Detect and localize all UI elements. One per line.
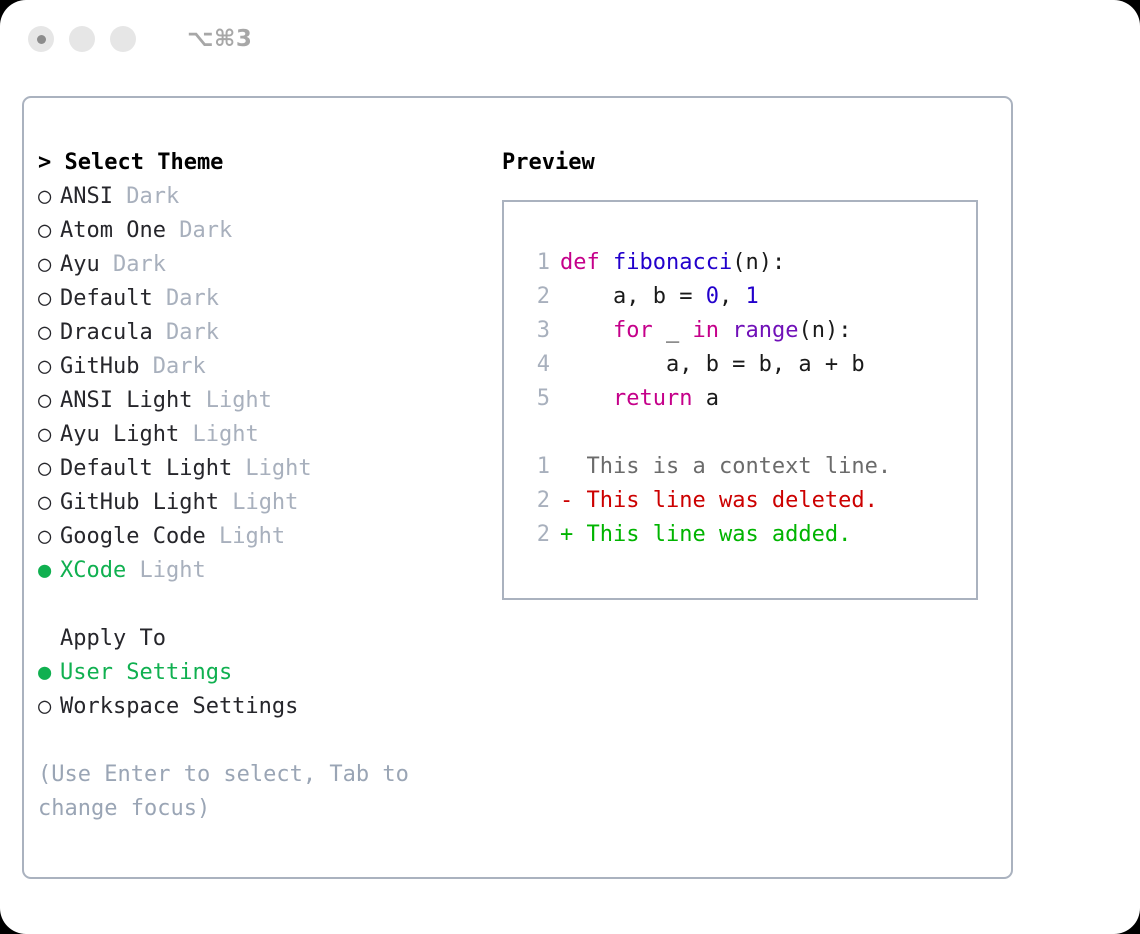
select-theme-heading: > Select Theme: [38, 146, 478, 180]
theme-name: ANSI: [60, 184, 113, 209]
theme-list-item[interactable]: ○Default Dark: [38, 282, 478, 316]
theme-list[interactable]: ○ANSI Dark○Atom One Dark○Ayu Dark○Defaul…: [38, 180, 478, 588]
keyboard-hint: (Use Enter to select, Tab to change focu…: [38, 758, 438, 826]
apply-to-option[interactable]: ○Workspace Settings: [38, 690, 478, 724]
traffic-light-maximize[interactable]: [110, 26, 136, 52]
code-token: a, b = b, a + b: [560, 352, 865, 377]
theme-name: Dracula: [60, 320, 153, 345]
radio-unselected-icon[interactable]: ○: [38, 180, 60, 214]
code-token: in: [692, 318, 719, 343]
code-token: 1: [745, 284, 758, 309]
line-number: 3: [524, 314, 550, 348]
radio-selected-icon[interactable]: ●: [38, 554, 60, 588]
radio-unselected-icon[interactable]: ○: [38, 690, 60, 724]
theme-name: XCode: [60, 558, 126, 583]
theme-variant-tag: Light: [219, 490, 298, 515]
theme-variant-tag: Light: [126, 558, 205, 583]
theme-variant-tag: Dark: [139, 354, 205, 379]
apply-to-options[interactable]: ●User Settings○Workspace Settings: [38, 656, 478, 724]
theme-list-item[interactable]: ○ANSI Light Light: [38, 384, 478, 418]
preview-box: 1def fibonacci(n):2 a, b = 0, 13 for _ i…: [502, 200, 978, 600]
code-token: a: [692, 386, 719, 411]
theme-variant-tag: Light: [232, 456, 311, 481]
theme-list-item[interactable]: ○Ayu Dark: [38, 248, 478, 282]
theme-variant-tag: Dark: [113, 184, 179, 209]
preview-column: Preview 1def fibonacci(n):2 a, b = 0, 13…: [502, 146, 992, 600]
line-number: 4: [524, 348, 550, 382]
theme-name: Ayu Light: [60, 422, 179, 447]
code-token: fibonacci: [613, 250, 732, 275]
code-line: 2 a, b = 0, 1: [524, 280, 976, 314]
radio-unselected-icon[interactable]: ○: [38, 520, 60, 554]
code-sample: 1def fibonacci(n):2 a, b = 0, 13 for _ i…: [524, 246, 976, 416]
line-number: 2: [524, 518, 550, 552]
code-token: for: [613, 318, 653, 343]
radio-unselected-icon[interactable]: ○: [38, 214, 60, 248]
code-token: (n):: [732, 250, 785, 275]
radio-unselected-icon[interactable]: ○: [38, 452, 60, 486]
theme-variant-tag: Light: [192, 388, 271, 413]
apply-to-option-label: User Settings: [60, 660, 232, 685]
theme-name: Default: [60, 286, 153, 311]
theme-list-item[interactable]: ○GitHub Dark: [38, 350, 478, 384]
diff-marker: -: [560, 488, 587, 513]
theme-name: GitHub Light: [60, 490, 219, 515]
theme-list-item[interactable]: ●XCode Light: [38, 554, 478, 588]
code-token: return: [613, 386, 692, 411]
line-number: 1: [524, 450, 550, 484]
preview-spacer: [524, 416, 976, 450]
line-number: 1: [524, 246, 550, 280]
radio-unselected-icon[interactable]: ○: [38, 384, 60, 418]
theme-variant-tag: Light: [179, 422, 258, 447]
radio-unselected-icon[interactable]: ○: [38, 418, 60, 452]
theme-name: GitHub: [60, 354, 139, 379]
radio-selected-icon[interactable]: ●: [38, 656, 60, 690]
theme-name: Ayu: [60, 252, 100, 277]
apply-to-section: Apply To ●User Settings○Workspace Settin…: [38, 622, 478, 724]
code-token: _: [653, 318, 693, 343]
traffic-light-close[interactable]: [28, 26, 54, 52]
code-line: 4 a, b = b, a + b: [524, 348, 976, 382]
code-line: 5 return a: [524, 382, 976, 416]
code-line: 3 for _ in range(n):: [524, 314, 976, 348]
code-token: a, b =: [560, 284, 706, 309]
code-token: def: [560, 250, 613, 275]
code-token: (n):: [798, 318, 851, 343]
theme-list-item[interactable]: ○Dracula Dark: [38, 316, 478, 350]
titlebar: ⌥⌘3: [0, 0, 1140, 78]
code-token: [560, 318, 613, 343]
theme-list-item[interactable]: ○ANSI Dark: [38, 180, 478, 214]
diff-sample: 1 This is a context line.2- This line wa…: [524, 450, 976, 552]
diff-marker: +: [560, 522, 587, 547]
diff-marker: [560, 454, 587, 479]
app-window: ⌥⌘3 > Select Theme ○ANSI Dark○Atom One D…: [0, 0, 1140, 934]
line-number: 5: [524, 382, 550, 416]
code-token: ,: [719, 284, 746, 309]
keyboard-shortcut-label: ⌥⌘3: [187, 26, 252, 52]
theme-name: Atom One: [60, 218, 166, 243]
code-token: [560, 386, 613, 411]
diff-text: This line was added.: [587, 522, 852, 547]
diff-line: 1 This is a context line.: [524, 450, 976, 484]
theme-list-item[interactable]: ○GitHub Light Light: [38, 486, 478, 520]
theme-selection-column: > Select Theme ○ANSI Dark○Atom One Dark○…: [38, 146, 478, 826]
theme-picker-panel: > Select Theme ○ANSI Dark○Atom One Dark○…: [22, 96, 1013, 879]
diff-line: 2+ This line was added.: [524, 518, 976, 552]
radio-unselected-icon[interactable]: ○: [38, 486, 60, 520]
code-token: [719, 318, 732, 343]
apply-to-option-label: Workspace Settings: [60, 694, 298, 719]
theme-variant-tag: Light: [206, 524, 285, 549]
code-token: 0: [706, 284, 719, 309]
apply-to-heading: Apply To: [38, 622, 478, 656]
code-token: range: [732, 318, 798, 343]
radio-unselected-icon[interactable]: ○: [38, 350, 60, 384]
theme-name: ANSI Light: [60, 388, 192, 413]
diff-line: 2- This line was deleted.: [524, 484, 976, 518]
code-line: 1def fibonacci(n):: [524, 246, 976, 280]
theme-list-item[interactable]: ○Google Code Light: [38, 520, 478, 554]
theme-name: Google Code: [60, 524, 206, 549]
radio-unselected-icon[interactable]: ○: [38, 248, 60, 282]
radio-unselected-icon[interactable]: ○: [38, 282, 60, 316]
theme-list-item[interactable]: ○Default Light Light: [38, 452, 478, 486]
diff-text: This line was deleted.: [587, 488, 878, 513]
theme-variant-tag: Dark: [100, 252, 166, 277]
theme-list-item[interactable]: ○Ayu Light Light: [38, 418, 478, 452]
radio-unselected-icon[interactable]: ○: [38, 316, 60, 350]
theme-list-item[interactable]: ○Atom One Dark: [38, 214, 478, 248]
line-number: 2: [524, 484, 550, 518]
apply-to-option[interactable]: ●User Settings: [38, 656, 478, 690]
theme-variant-tag: Dark: [166, 218, 232, 243]
traffic-light-minimize[interactable]: [69, 26, 95, 52]
preview-heading: Preview: [502, 146, 992, 180]
theme-name: Default Light: [60, 456, 232, 481]
theme-variant-tag: Dark: [153, 320, 219, 345]
diff-text: This is a context line.: [587, 454, 892, 479]
line-number: 2: [524, 280, 550, 314]
theme-variant-tag: Dark: [153, 286, 219, 311]
